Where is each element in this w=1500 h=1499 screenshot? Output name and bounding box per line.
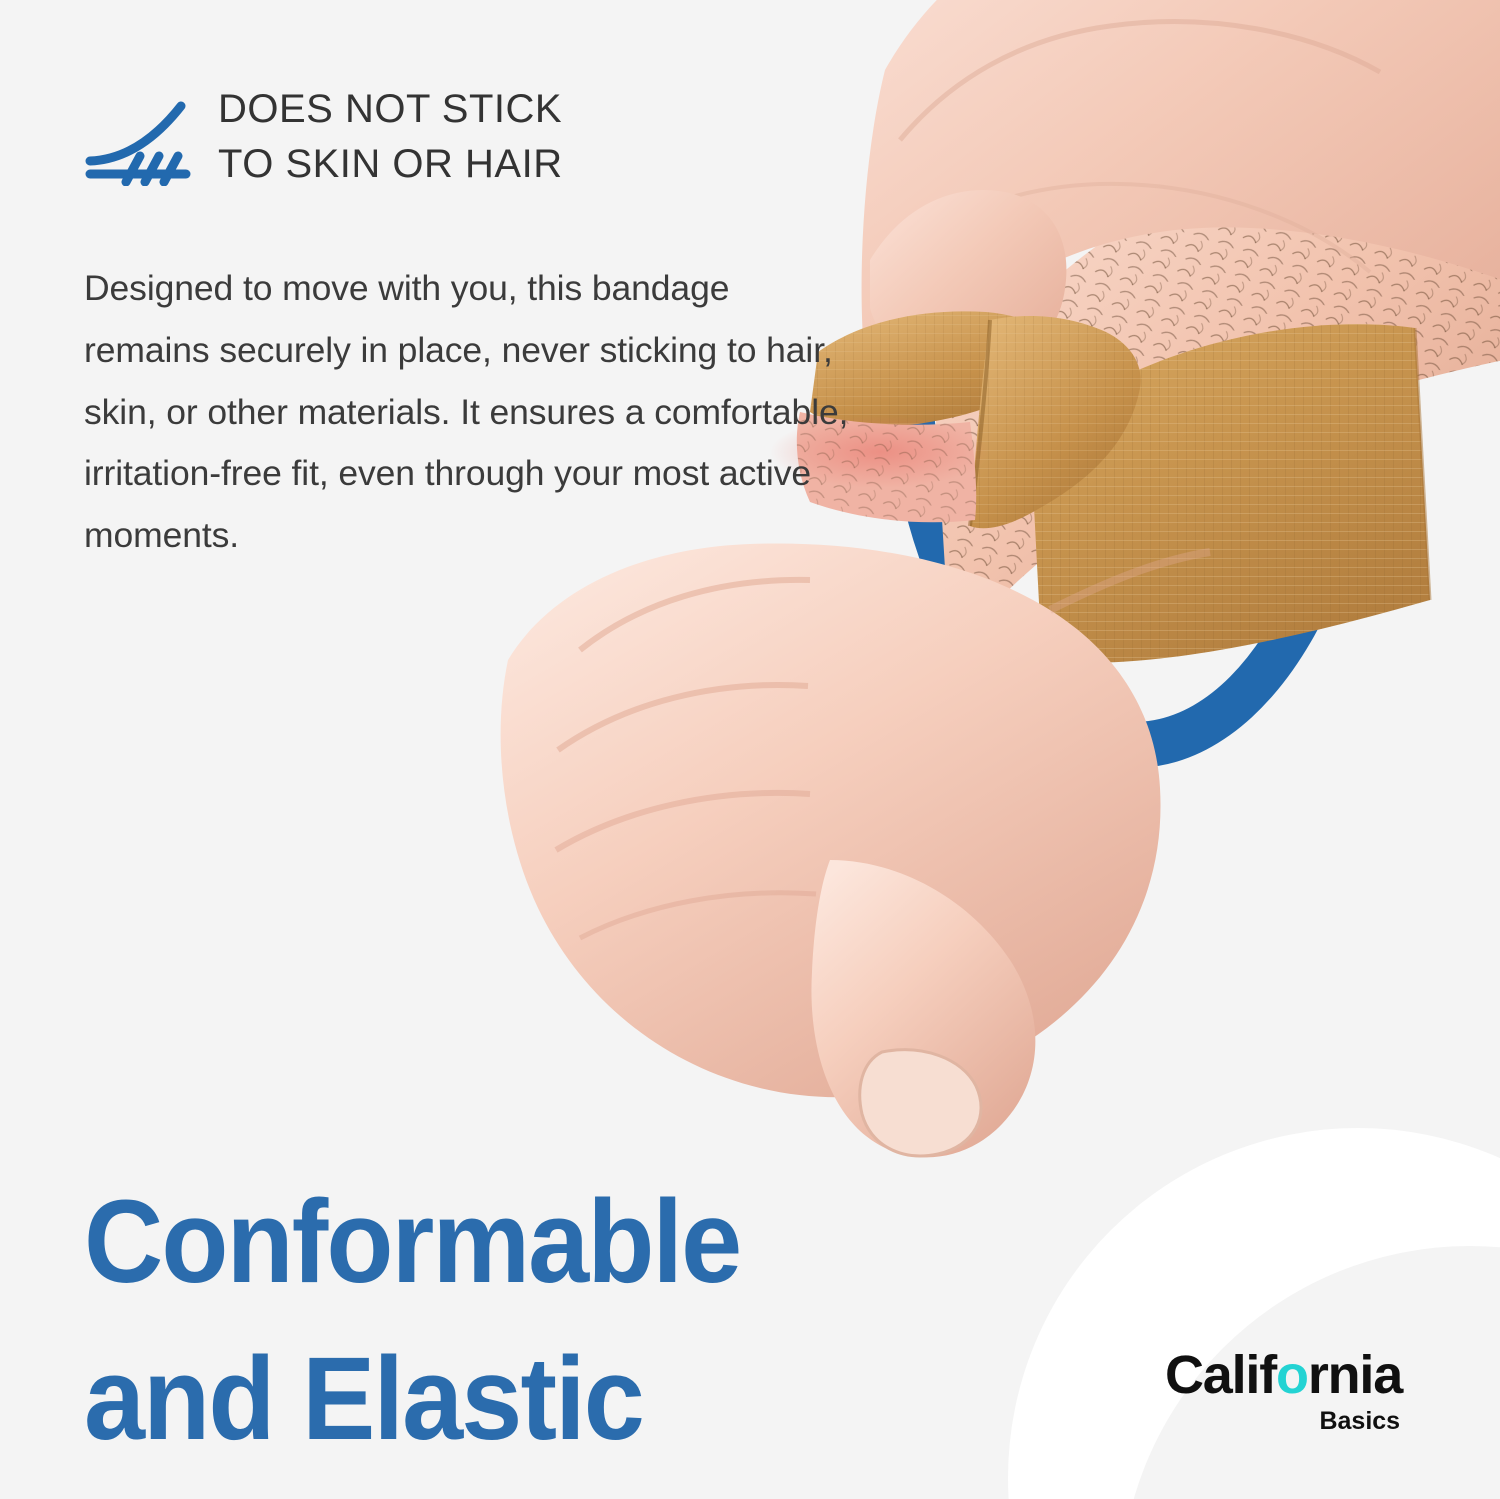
brand-logo: California Basics	[1165, 1348, 1402, 1434]
brand-wordmark: California	[1165, 1348, 1402, 1402]
brand-wordmark-part-1: Calif	[1165, 1345, 1276, 1405]
feature-heading-text: DOES NOT STICK TO SKIN OR HAIR	[218, 82, 563, 192]
page-headline: Conformable and Elastic	[84, 1164, 921, 1478]
brand-wordmark-teal-o: o	[1276, 1345, 1308, 1405]
bandage-not-sticking-to-hair-icon	[82, 90, 194, 186]
brand-wordmark-part-2: rnia	[1308, 1345, 1402, 1405]
feature-heading-block: DOES NOT STICK TO SKIN OR HAIR	[82, 82, 842, 192]
product-feature-card: DOES NOT STICK TO SKIN OR HAIR Designed …	[0, 0, 1500, 1499]
brand-subword: Basics	[1165, 1409, 1400, 1434]
feature-body-text: Designed to move with you, this bandage …	[84, 258, 854, 567]
